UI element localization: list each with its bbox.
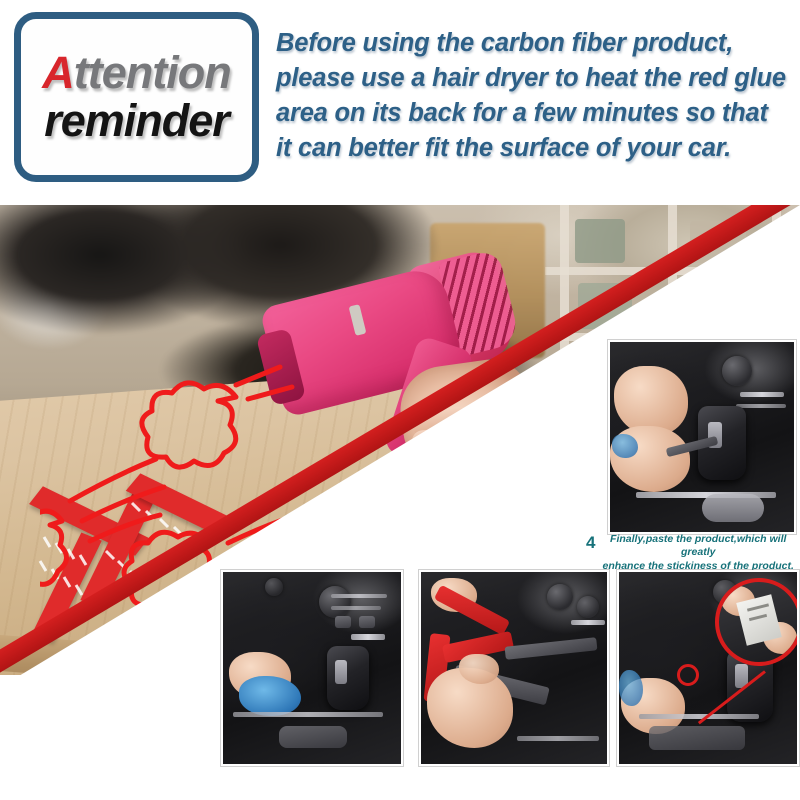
step-4-number: 4 (586, 534, 595, 551)
shelf-item (575, 219, 625, 263)
headline-line-3: area on its back for a few minutes so th… (276, 96, 790, 131)
chrome-trim (331, 594, 387, 598)
attention-reminder-badge: Attention reminder (14, 12, 259, 182)
badge-word-attention: ttention (74, 47, 231, 98)
chrome-trim (571, 620, 605, 625)
dashboard-button (359, 616, 375, 628)
console-panel (279, 726, 347, 748)
headline-line-2: please use a hair dryer to heat the red … (276, 61, 790, 96)
badge-accent-letter: A (42, 47, 74, 98)
badge-line-attention: Attention (42, 50, 230, 96)
chrome-trim (736, 404, 786, 408)
dashboard-knob (319, 586, 351, 618)
chrome-trim (740, 392, 784, 397)
headline-text: Before using the carbon fiber product, p… (276, 26, 790, 166)
header: Attention reminder Before using the carb… (0, 0, 800, 205)
headline-line-1: Before using the carbon fiber product, (276, 26, 790, 61)
badge-word-reminder: reminder (44, 98, 229, 144)
adhesive-tape-backing (736, 594, 782, 645)
callout-content (719, 582, 799, 662)
callout-zoom-circle (715, 578, 799, 666)
console-trim (233, 712, 383, 717)
console-trim (639, 714, 759, 719)
dashboard-knob (547, 584, 573, 610)
cloth (612, 434, 638, 458)
sleeve (619, 670, 643, 706)
instruction-graphic: Attention reminder Before using the carb… (0, 0, 800, 800)
blue-microfiber-rag (239, 676, 301, 716)
chrome-trim (351, 634, 385, 640)
step-4-text: Finally,paste the product,which will gre… (598, 533, 798, 573)
console-panel (702, 494, 764, 522)
dashboard-button (335, 616, 351, 628)
dashboard-knob (577, 596, 599, 618)
step-2-photo (419, 570, 609, 766)
step-1-photo (221, 570, 403, 766)
callout-anchor-dot (677, 664, 699, 686)
chrome-trim (331, 606, 381, 610)
step-3-photo (617, 570, 799, 766)
step-4-photo (608, 340, 796, 534)
dashboard-knob (265, 578, 283, 596)
shifter-button (335, 660, 347, 684)
finger (459, 654, 499, 684)
step-4-caption: 4 Finally,paste the product,which will g… (586, 533, 798, 573)
photo-stage: 4 Finally,paste the product,which will g… (0, 205, 800, 800)
headline-line-4: it can better fit the surface of your ca… (276, 131, 790, 166)
console-panel (649, 726, 745, 750)
console-trim (517, 736, 599, 741)
gear-shifter (327, 646, 369, 710)
step-4-text-line-1: Finally,paste the product,which will gre… (610, 533, 786, 558)
dashboard-knob (722, 356, 752, 386)
